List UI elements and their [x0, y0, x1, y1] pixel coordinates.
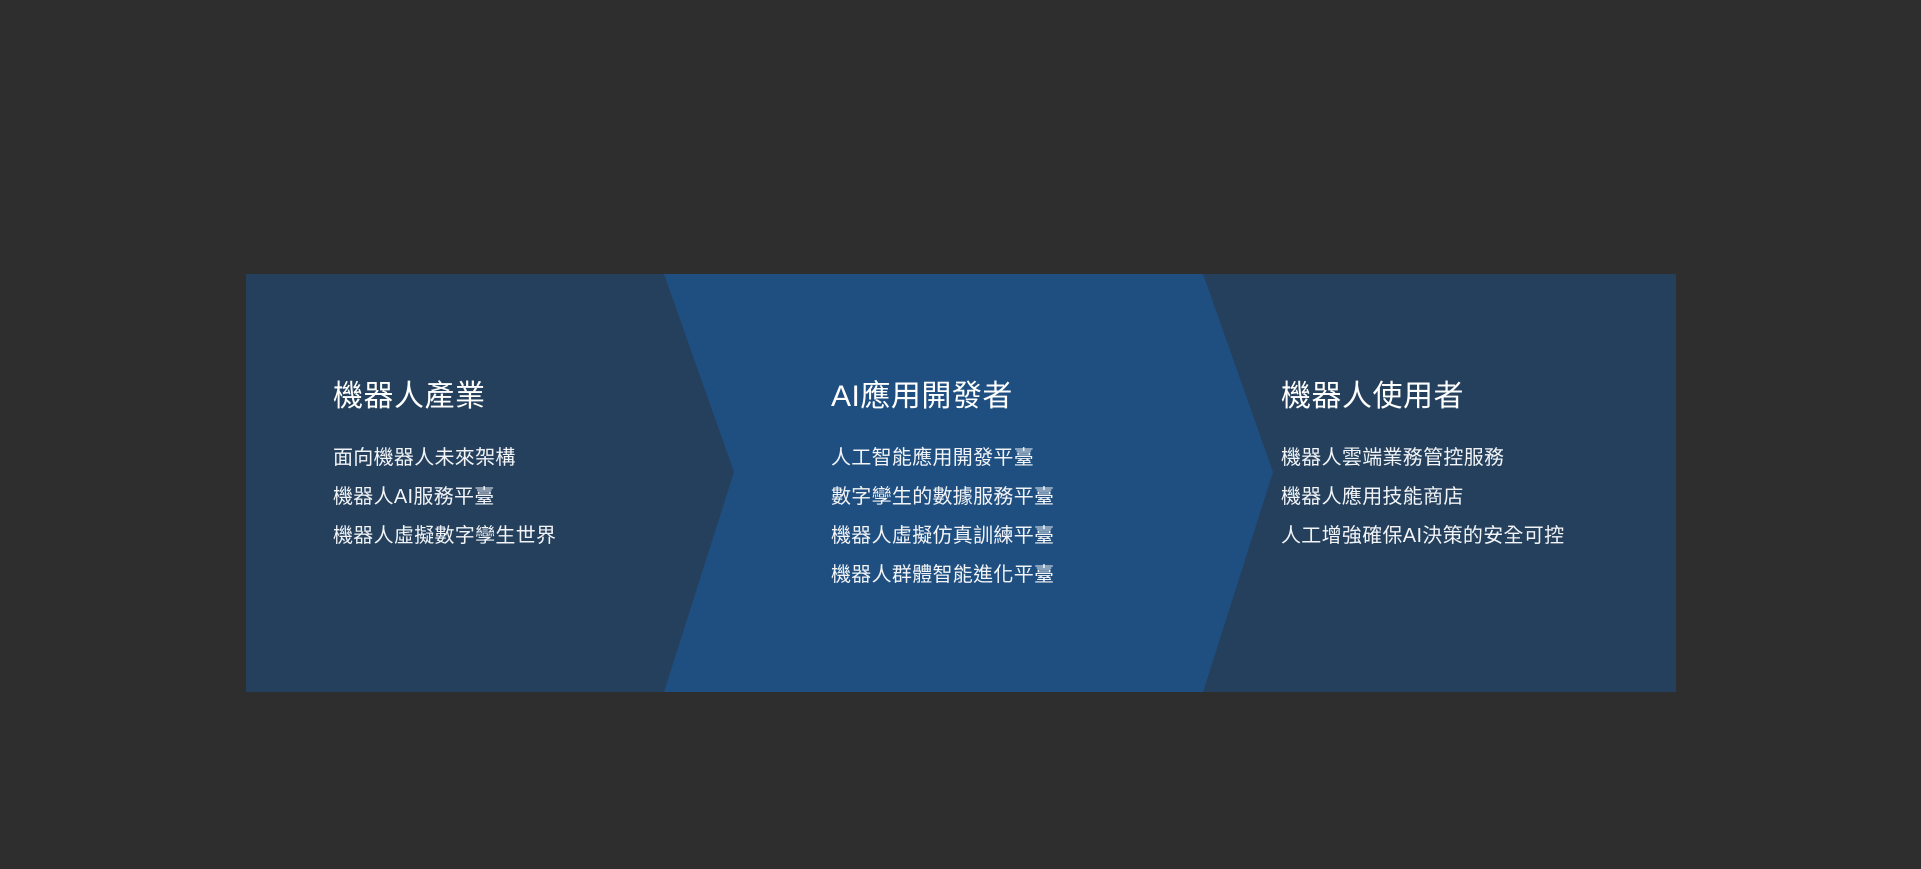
stage-column-3: 機器人使用者 機器人雲端業務管控服務 機器人應用技能商店 人工增強確保AI決策的… [1281, 274, 1661, 692]
stage-3-title: 機器人使用者 [1281, 378, 1464, 416]
stage-3-item-list: 機器人雲端業務管控服務 機器人應用技能商店 人工增強確保AI決策的安全可控 [1281, 439, 1564, 556]
stage-2-item: 數字孿生的數據服務平臺 [831, 478, 1054, 517]
stage-1-item: 機器人AI服務平臺 [333, 478, 556, 517]
stage-2-item: 機器人虛擬仿真訓練平臺 [831, 517, 1054, 556]
stage-column-2: AI應用開發者 人工智能應用開發平臺 數字孿生的數據服務平臺 機器人虛擬仿真訓練… [831, 274, 1231, 692]
stage-3-item: 人工增強確保AI決策的安全可控 [1281, 517, 1564, 556]
stage-2-item: 人工智能應用開發平臺 [831, 439, 1054, 478]
stage-2-item: 機器人群體智能進化平臺 [831, 556, 1054, 595]
chevron-process-graphic: 機器人產業 面向機器人未來架構 機器人AI服務平臺 機器人虛擬數字孿生世界 AI… [246, 274, 1676, 692]
stage-column-1: 機器人產業 面向機器人未來架構 機器人AI服務平臺 機器人虛擬數字孿生世界 [333, 274, 663, 692]
slide-canvas: 機器人產業 面向機器人未來架構 機器人AI服務平臺 機器人虛擬數字孿生世界 AI… [0, 0, 1921, 869]
stage-3-item: 機器人應用技能商店 [1281, 478, 1564, 517]
stage-1-item-list: 面向機器人未來架構 機器人AI服務平臺 機器人虛擬數字孿生世界 [333, 439, 556, 556]
stage-1-item: 面向機器人未來架構 [333, 439, 556, 478]
stage-3-item: 機器人雲端業務管控服務 [1281, 439, 1564, 478]
stage-2-title: AI應用開發者 [831, 378, 1013, 416]
stage-1-item: 機器人虛擬數字孿生世界 [333, 517, 556, 556]
stage-2-item-list: 人工智能應用開發平臺 數字孿生的數據服務平臺 機器人虛擬仿真訓練平臺 機器人群體… [831, 439, 1054, 595]
stage-1-title: 機器人產業 [333, 378, 486, 416]
